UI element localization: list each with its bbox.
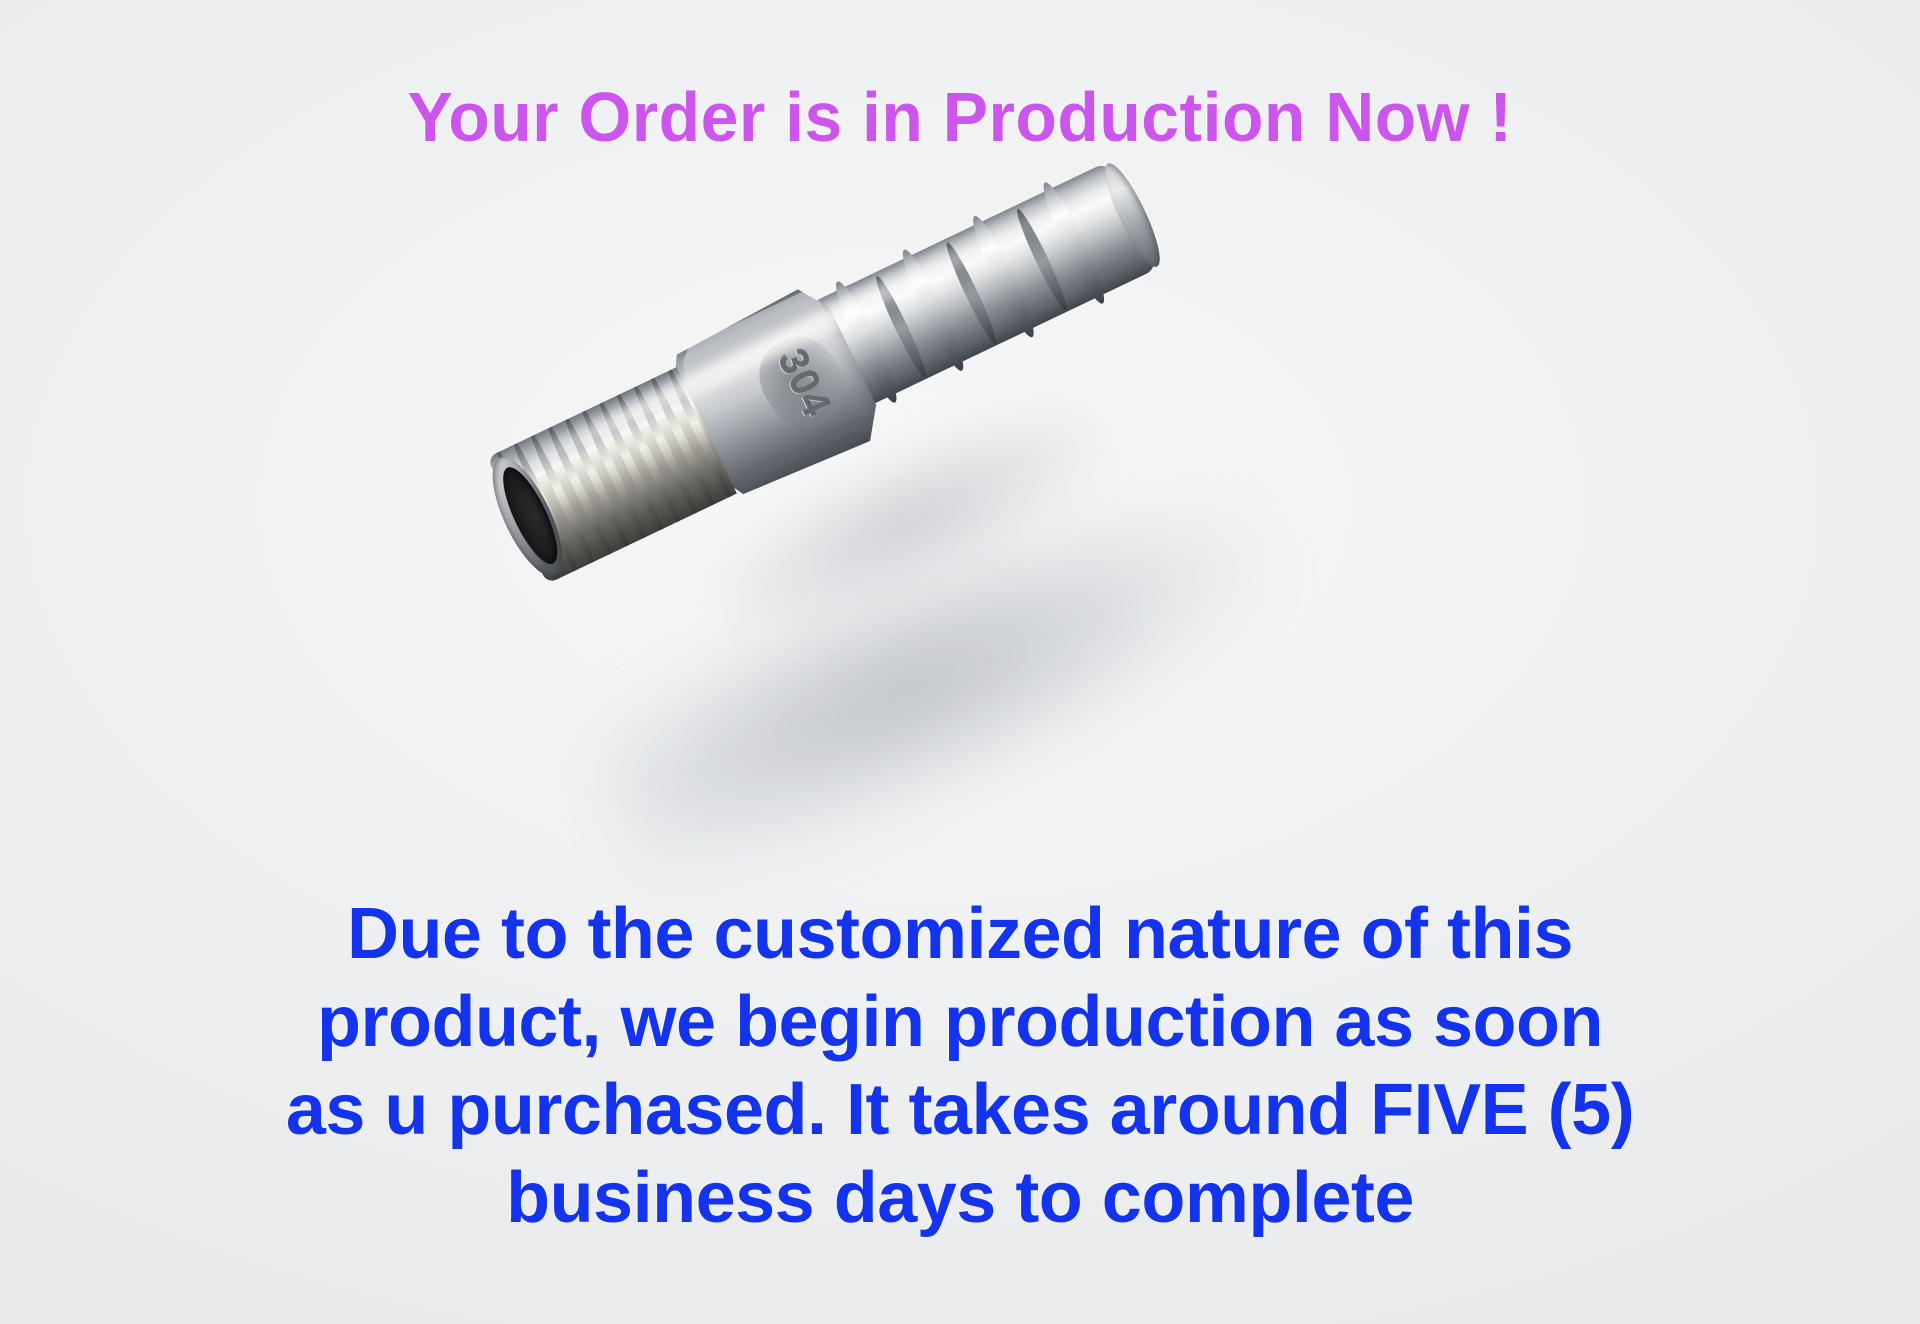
thread-bore	[493, 461, 568, 570]
threaded-section	[487, 367, 737, 584]
thread-open-face	[479, 448, 576, 585]
product-shadow	[571, 432, 1305, 917]
specular-highlight	[507, 186, 1093, 480]
material-stamp-recess	[745, 323, 860, 442]
notice-line: Due to the customized nature of this	[0, 890, 1920, 978]
notice-line: business days to complete	[0, 1154, 1920, 1242]
hex-flange-highlight	[669, 287, 831, 394]
page-title: Your Order is in Production Now !	[29, 78, 1891, 156]
barb-ridge	[1036, 178, 1112, 308]
barb-groove	[1012, 206, 1071, 312]
barb-ridge	[966, 212, 1042, 342]
product-shadow-secondary	[692, 372, 1128, 667]
barb-ridge	[828, 277, 904, 407]
hex-flange	[658, 280, 889, 507]
notice-line: product, we begin production as soon	[0, 978, 1920, 1066]
barb-groove	[871, 273, 930, 379]
barb-ridge	[895, 245, 971, 375]
hose-barb-fitting-icon: 304	[457, 74, 1395, 842]
notice-line: as u purchased. It takes around FIVE (5)	[0, 1066, 1920, 1154]
material-grade-stamp: 304	[748, 331, 860, 435]
promotional-banner: Your Order is in Production Now ! 304	[0, 0, 1920, 1324]
barb-groove	[942, 240, 1001, 346]
barb-end-cap	[1096, 158, 1169, 272]
production-notice: Due to the customized nature of this pro…	[0, 890, 1920, 1242]
barb-section	[810, 161, 1159, 410]
